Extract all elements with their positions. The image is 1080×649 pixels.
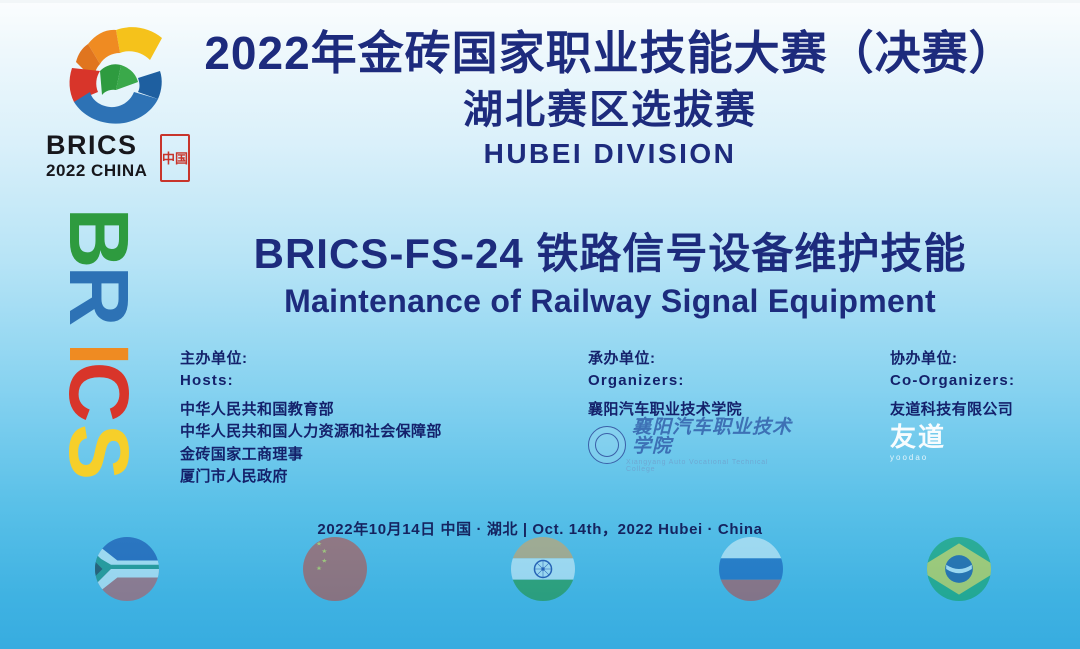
project-title-english: Maintenance of Railway Signal Equipment [165,283,1055,320]
vertical-letter-r: R [57,266,141,327]
credits-co-organizers: 协办单位: Co-Organizers: 友道科技有限公司 友道 yoodao [890,348,1070,421]
organizers-label-en: Organizers: [588,370,858,392]
flag-brazil [927,537,991,601]
flag-china [303,537,367,601]
credits-hosts: 主办单位: Hosts: 中华人民共和国教育部 中华人民共和国人力资源和社会保障… [180,348,520,489]
flag-south-africa [95,537,159,601]
member-flags-row [0,537,1080,627]
yoodao-logo: 友道 yoodao [890,424,946,462]
yoodao-logo-name-cn: 友道 [890,424,946,450]
vertical-letter-b: B [57,208,141,269]
page-title-english: HUBEI DIVISION [170,138,1050,170]
hosts-org-4: 厦门市人民政府 [180,466,520,489]
brics-swirl-logo [54,22,174,132]
yoodao-logo-name-en: yoodao [890,453,946,462]
page-title: 2022年金砖国家职业技能大赛（决赛） [170,26,1050,80]
organizers-label-cn: 承办单位: [588,348,858,370]
hosts-org-3: 金砖国家工商理事 [180,444,520,467]
college-seal-icon [588,426,626,464]
hosts-label-cn: 主办单位: [180,348,520,370]
poster-title-block: 2022年金砖国家职业技能大赛（决赛） 湖北赛区选拔赛 HUBEI DIVISI… [170,26,1050,170]
co-organizers-label-en: Co-Organizers: [890,370,1070,392]
hosts-org-1: 中华人民共和国教育部 [180,399,520,422]
co-organizers-label-cn: 协办单位: [890,348,1070,370]
project-title-block: BRICS-FS-24 铁路信号设备维护技能 Maintenance of Ra… [165,228,1055,320]
credits-block: 主办单位: Hosts: 中华人民共和国教育部 中华人民共和国人力资源和社会保障… [0,348,1080,498]
college-logo-name-en: Xiangyang Auto Vocational Technical Coll… [626,459,798,473]
xiangyang-college-logo: 襄阳汽车职业技术学院 Xiangyang Auto Vocational Tec… [588,424,798,466]
hosts-org-2: 中华人民共和国人力资源和社会保障部 [180,421,520,444]
flag-india [511,537,575,601]
brics-competition-poster: BRICS 2022 CHINA 中国 B R I C S 2022年金砖国家职… [0,0,1080,649]
college-logo-name-cn: 襄阳汽车职业技术学院 [632,418,798,456]
project-title-chinese: BRICS-FS-24 铁路信号设备维护技能 [165,228,1055,279]
hosts-label-en: Hosts: [180,370,520,392]
co-organizers-org-1: 友道科技有限公司 [890,399,1070,422]
event-dateline: 2022年10月14日 中国 · 湖北 | Oct. 14th，2022 Hub… [0,518,1080,539]
credits-organizers: 承办单位: Organizers: 襄阳汽车职业技术学院 襄阳汽车职业技术学院 … [588,348,858,421]
flag-russia [719,537,783,601]
page-subtitle: 湖北赛区选拔赛 [170,86,1050,134]
